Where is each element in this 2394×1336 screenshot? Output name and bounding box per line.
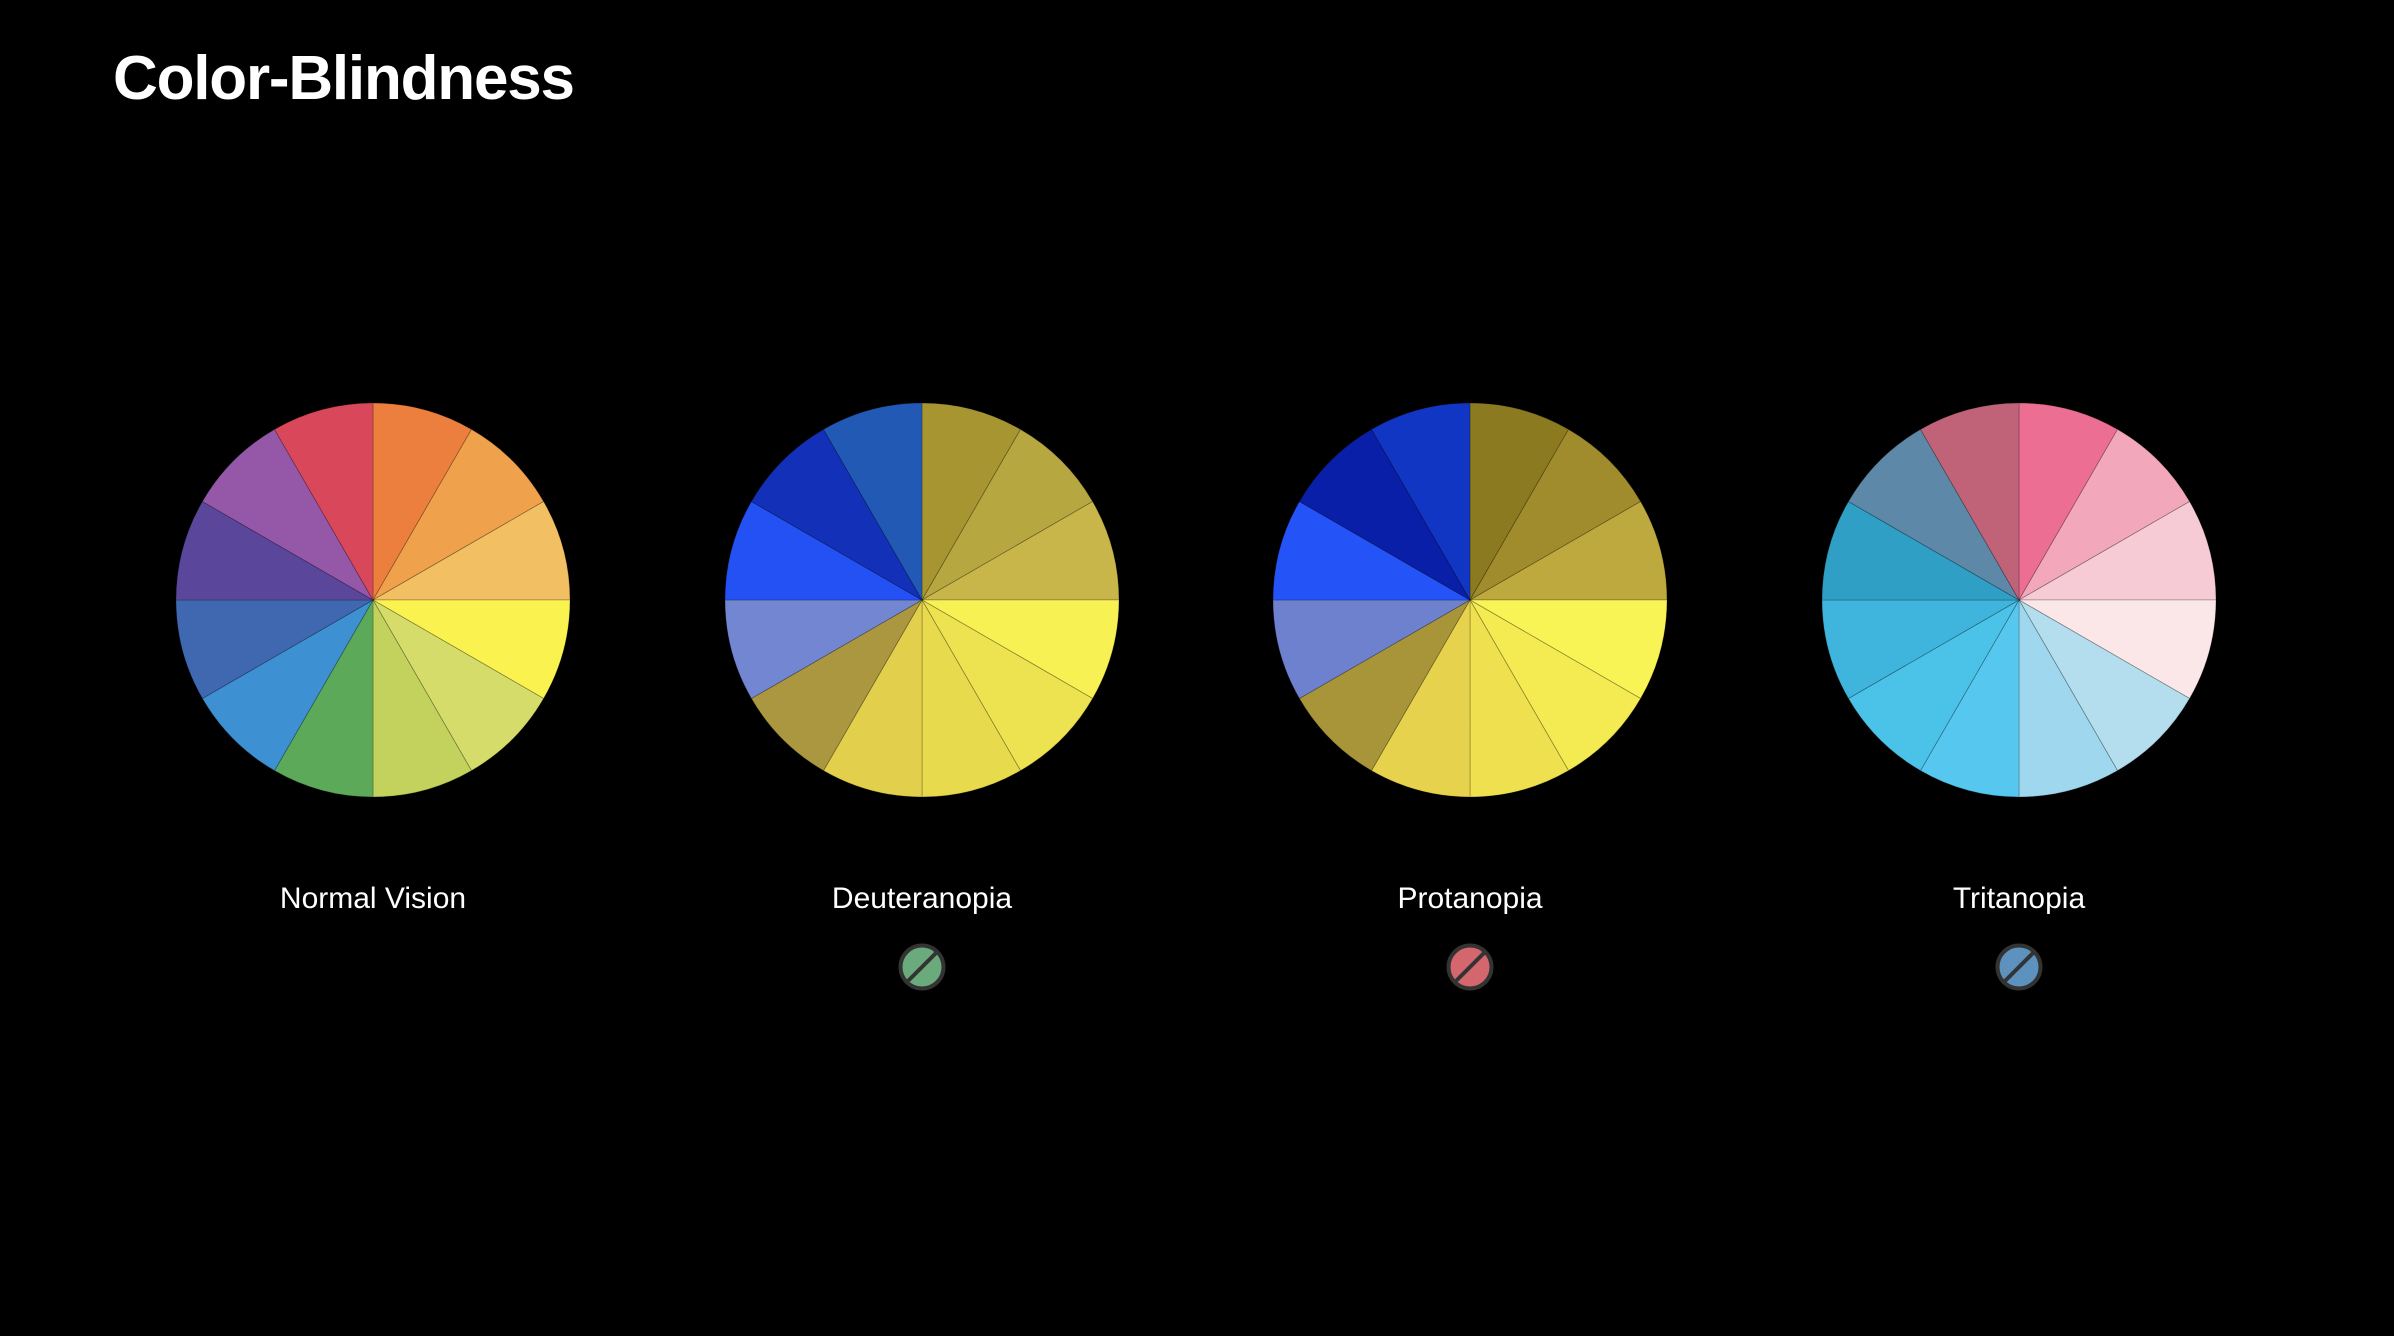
color-wheel-cell: Tritanopia (1809, 400, 2229, 1060)
color-wheel-deuteranopia (722, 400, 1122, 800)
color-wheel-cell: Normal Vision (163, 400, 583, 1060)
color-wheel-row: Normal VisionDeuteranopiaProtanopiaTrita… (0, 400, 2394, 1060)
color-wheel-cell: Deuteranopia (712, 400, 1132, 1060)
color-wheel-normal-vision (173, 400, 573, 800)
wheel-label: Tritanopia (1953, 884, 2085, 914)
wheel-label: Deuteranopia (832, 884, 1012, 914)
color-wheel-tritanopia (1819, 400, 2219, 800)
badge-placeholder (346, 940, 400, 994)
no-blue-icon (1992, 940, 2046, 994)
page-title: Color-Blindness (113, 48, 574, 110)
color-wheel-protanopia (1270, 400, 1670, 800)
no-green-icon (895, 940, 949, 994)
wheel-label: Protanopia (1397, 884, 1542, 914)
color-wheel-cell: Protanopia (1260, 400, 1680, 1060)
wheel-label: Normal Vision (280, 884, 466, 914)
no-red-icon (1443, 940, 1497, 994)
